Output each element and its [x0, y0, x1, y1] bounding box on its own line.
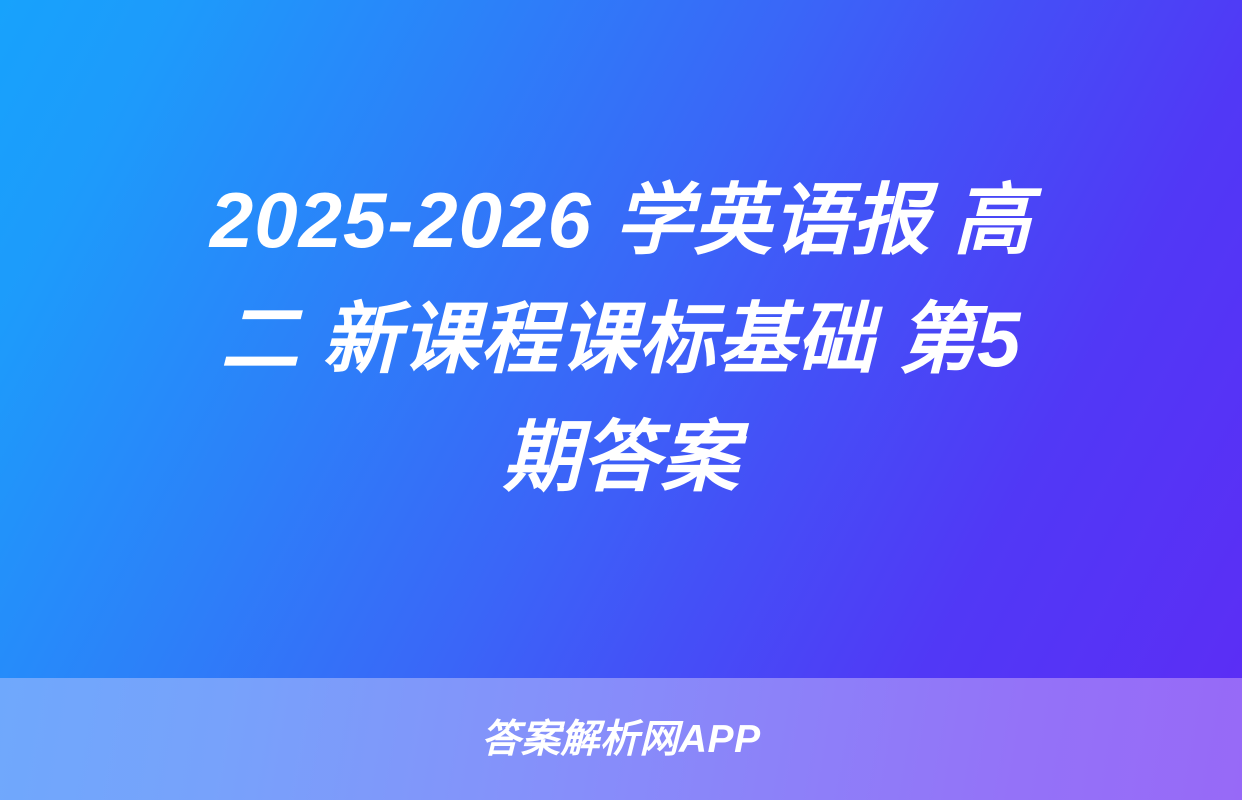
page-title-line-2: 二 新课程课标基础 第5 [36, 280, 1206, 399]
footer-brand-label: 答案解析网APP [481, 720, 760, 759]
page-title-line-3: 期答案 [36, 398, 1206, 517]
answer-cover-card: 2025-2026 学英语报 高 二 新课程课标基础 第5 期答案 答案解析网A… [0, 0, 1242, 800]
title-block: 2025-2026 学英语报 高 二 新课程课标基础 第5 期答案 [0, 0, 1242, 678]
page-title-line-1: 2025-2026 学英语报 高 [36, 161, 1206, 280]
footer-brand-band: 答案解析网APP [0, 678, 1242, 800]
